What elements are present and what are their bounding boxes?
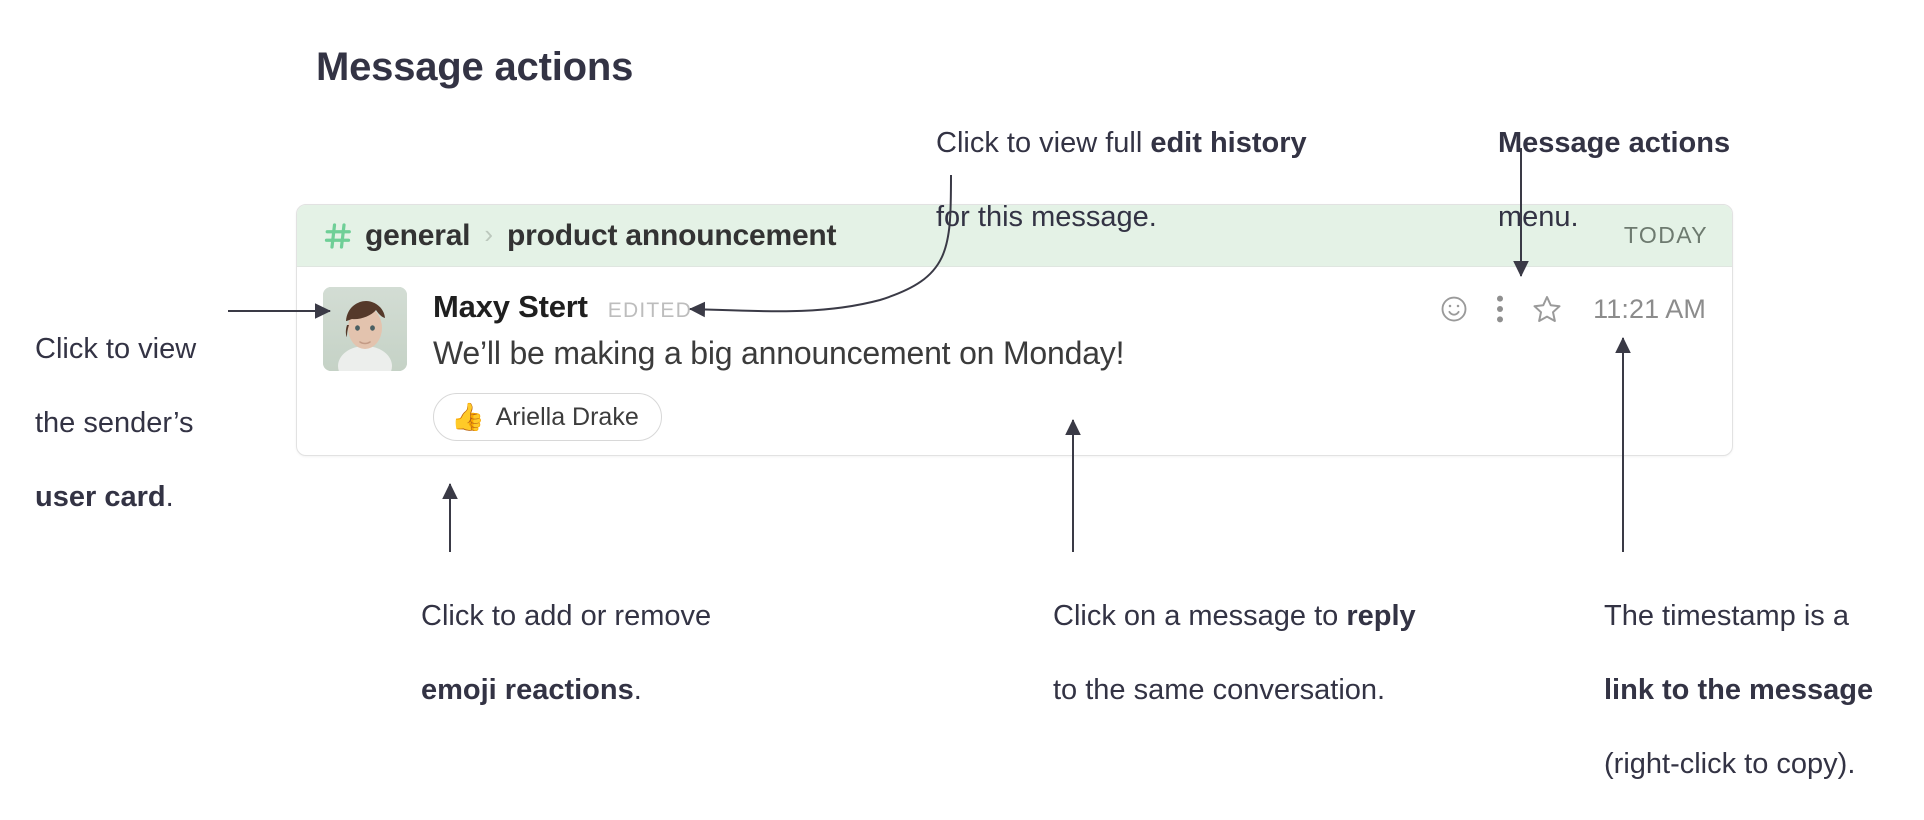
- breadcrumb-topic[interactable]: product announcement: [507, 219, 836, 253]
- sender-name[interactable]: Maxy Stert: [433, 289, 588, 325]
- sender-row: Maxy Stert EDITED: [433, 289, 692, 325]
- annotation-text: for this message.: [936, 199, 1307, 236]
- message-action-icons: 11:21 AM: [1413, 293, 1706, 325]
- reaction-pill[interactable]: 👍 Ariella Drake: [433, 393, 662, 441]
- annotation-strong: edit history: [1150, 127, 1306, 159]
- annotation-timestamp: The timestamp is a link to the message (…: [1604, 561, 1873, 820]
- annotation-text: Click to view full: [936, 127, 1150, 159]
- avatar[interactable]: [323, 287, 407, 371]
- annotation-strong: emoji reactions: [421, 674, 634, 706]
- message-row[interactable]: Maxy Stert EDITED We’ll be making a big …: [297, 267, 1732, 455]
- message-timestamp[interactable]: 11:21 AM: [1593, 294, 1706, 325]
- annotation-text: Click to view: [35, 331, 275, 368]
- page-title: Message actions: [316, 45, 633, 90]
- annotation-text: .: [166, 481, 174, 513]
- star-icon[interactable]: [1531, 293, 1563, 325]
- annotation-text: to the same conversation.: [1053, 672, 1416, 709]
- annotation-strong: reply: [1346, 600, 1415, 632]
- annotation-edit-history: Click to view full edit history for this…: [936, 88, 1307, 273]
- edited-badge[interactable]: EDITED: [608, 299, 692, 323]
- chevron-right-icon: ›: [484, 219, 493, 250]
- reaction-label: Ariella Drake: [496, 403, 639, 432]
- emoji-reaction-icon[interactable]: [1439, 294, 1469, 324]
- breadcrumb-stream[interactable]: general: [365, 219, 470, 253]
- annotation-text: .: [634, 674, 642, 706]
- hash-icon: [323, 221, 365, 251]
- annotation-text: Click on a message to: [1053, 600, 1346, 632]
- annotation-text: Click to add or remove: [421, 598, 711, 635]
- annotation-message-actions: Message actions menu.: [1498, 88, 1730, 273]
- annotation-strong: user card: [35, 481, 166, 513]
- annotation-text: The timestamp is a: [1604, 598, 1873, 635]
- annotation-user-card: Click to view the sender’s user card.: [35, 294, 275, 553]
- annotation-strong: Message actions: [1498, 127, 1730, 159]
- annotation-emoji-reactions: Click to add or remove emoji reactions.: [421, 561, 711, 746]
- annotation-strong: link to the message: [1604, 674, 1873, 706]
- annotation-text: menu.: [1498, 199, 1730, 236]
- annotation-text: the sender’s: [35, 405, 275, 442]
- annotation-reply: Click on a message to reply to the same …: [1053, 561, 1416, 746]
- message-actions-menu-icon[interactable]: [1495, 294, 1505, 324]
- annotation-text: (right-click to copy).: [1604, 746, 1873, 783]
- thumbs-up-icon: 👍: [451, 404, 485, 431]
- message-body[interactable]: We’ll be making a big announcement on Mo…: [433, 335, 1124, 372]
